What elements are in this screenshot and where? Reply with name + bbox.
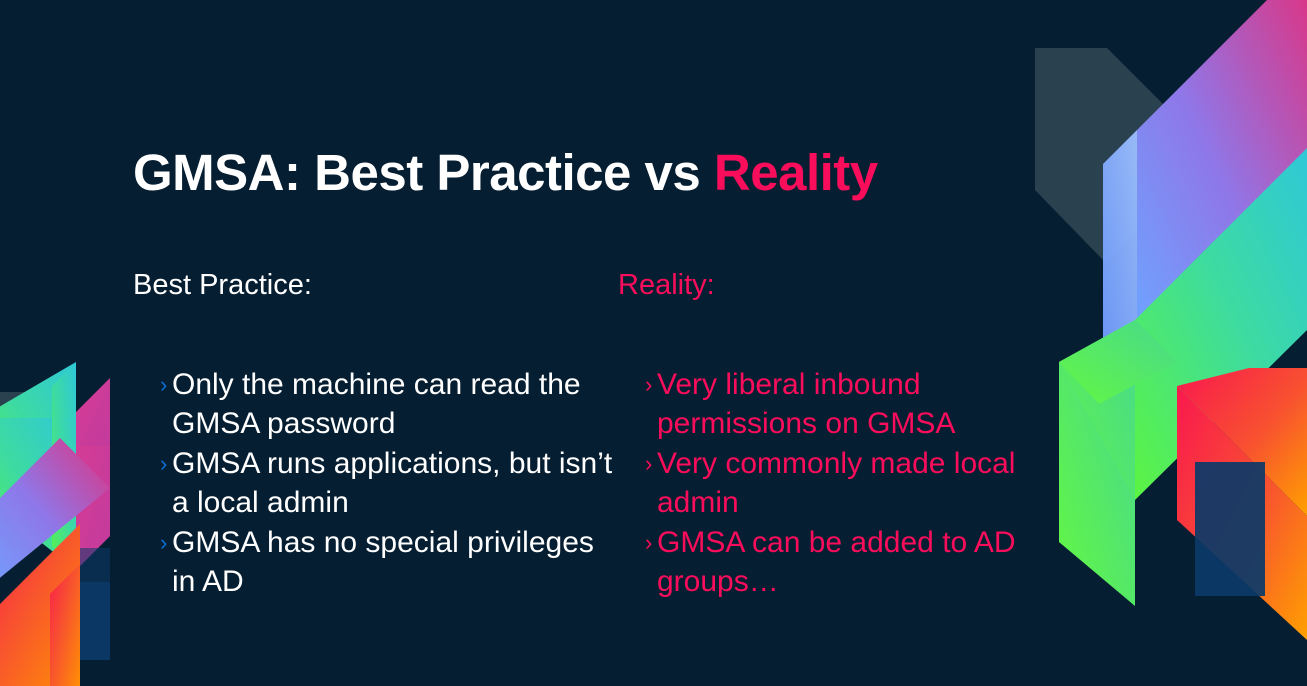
list-item-label: Very liberal inbound permissions on GMSA xyxy=(657,365,1048,443)
slide-title: GMSA: Best Practice vs Reality xyxy=(133,146,878,200)
deco-left-shape-orange xyxy=(0,524,80,686)
chevron-right-icon: › xyxy=(618,365,657,404)
list-item: › Very liberal inbound permissions on GM… xyxy=(618,365,1048,443)
deco-left-shape-slate xyxy=(0,392,58,444)
column-reality: Reality: › Very liberal inbound permissi… xyxy=(618,268,1048,602)
column-best-practice: Best Practice: › Only the machine can re… xyxy=(133,268,618,602)
slide-title-accent: Reality xyxy=(714,144,878,201)
chevron-right-icon: › xyxy=(133,444,172,483)
column-heading-reality: Reality: xyxy=(618,268,1048,303)
deco-left-shape-magenta xyxy=(76,378,110,570)
deco-shape-slate xyxy=(1035,48,1177,262)
decoration-left-isometric-pattern xyxy=(0,0,150,686)
list-item-label: Only the machine can read the GMSA passw… xyxy=(172,365,618,443)
deco-shape-red xyxy=(1177,368,1307,640)
slide-title-main: GMSA: Best Practice vs xyxy=(133,144,714,201)
deco-left-shape-navy xyxy=(52,548,110,660)
chevron-right-icon: › xyxy=(133,523,172,562)
column-heading-best-practice: Best Practice: xyxy=(133,268,618,303)
list-item-label: GMSA runs applications, but isn’t a loca… xyxy=(172,444,618,522)
bullet-list-reality: › Very liberal inbound permissions on GM… xyxy=(618,365,1048,601)
list-item-label: GMSA can be added to AD groups… xyxy=(657,523,1048,601)
list-item-label: GMSA has no special privileges in AD xyxy=(172,523,618,601)
list-item-label: Very commonly made local admin xyxy=(657,444,1048,522)
list-item: › GMSA can be added to AD groups… xyxy=(618,523,1048,601)
deco-shape-violet xyxy=(1103,0,1307,364)
list-item: › GMSA has no special privileges in AD xyxy=(133,523,618,601)
list-item: › Very commonly made local admin xyxy=(618,444,1048,522)
list-item: › GMSA runs applications, but isn’t a lo… xyxy=(133,444,618,522)
list-item: › Only the machine can read the GMSA pas… xyxy=(133,365,618,443)
deco-left-shape-green xyxy=(0,362,76,570)
content-columns: Best Practice: › Only the machine can re… xyxy=(133,268,1133,602)
deco-left-shape-violet xyxy=(0,438,110,594)
bullet-list-best-practice: › Only the machine can read the GMSA pas… xyxy=(133,365,618,601)
slide-canvas: GMSA: Best Practice vs Reality Best Prac… xyxy=(0,0,1307,686)
chevron-right-icon: › xyxy=(618,523,657,562)
chevron-right-icon: › xyxy=(618,444,657,483)
deco-shape-navy xyxy=(1195,420,1307,596)
chevron-right-icon: › xyxy=(133,365,172,404)
